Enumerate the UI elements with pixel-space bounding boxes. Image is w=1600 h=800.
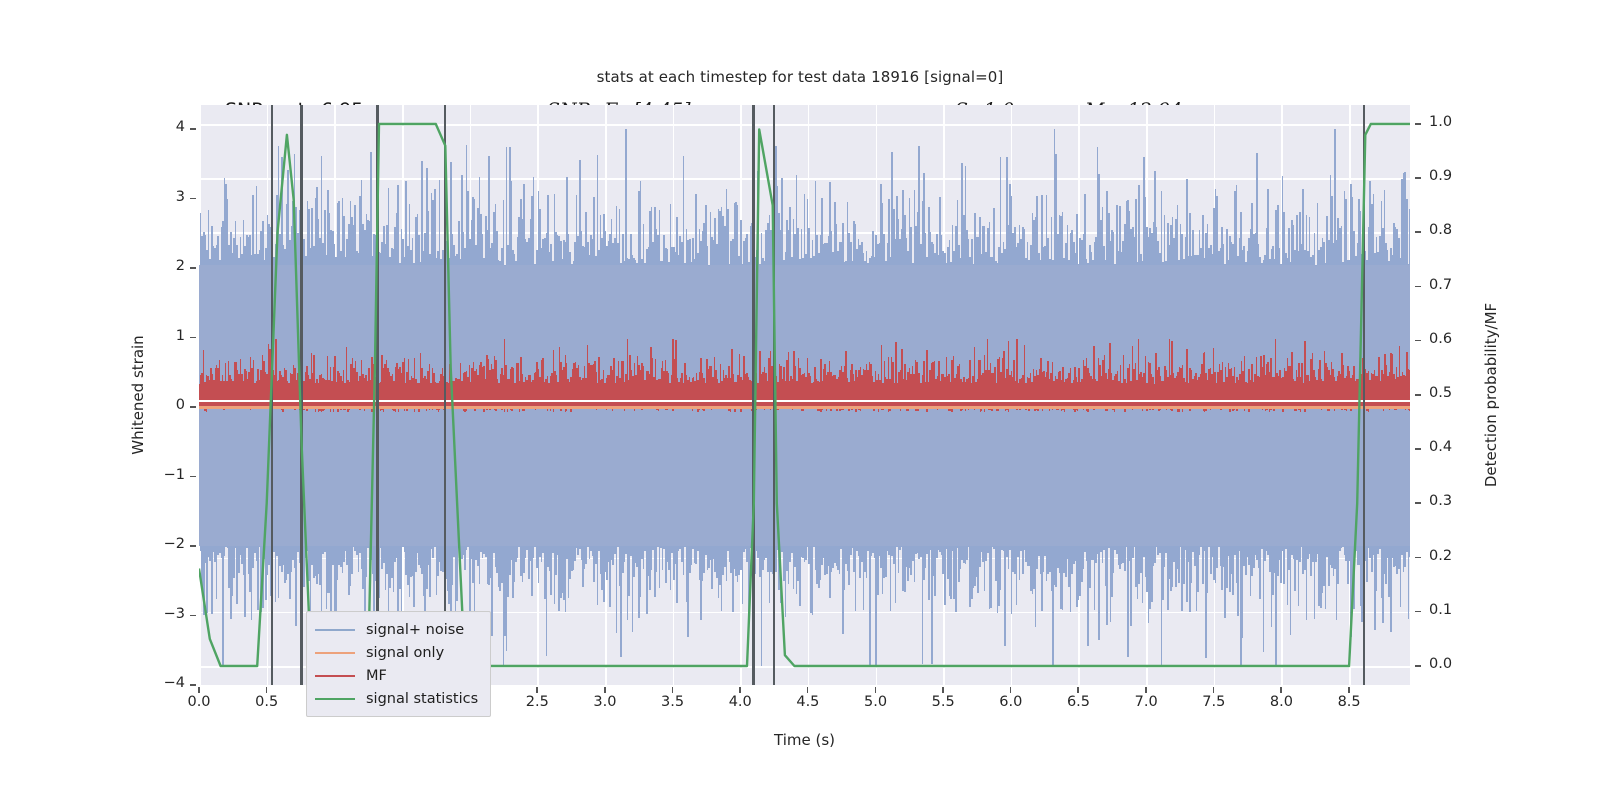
legend[interactable]: signal+ noisesignal onlyMFsignal statist… bbox=[306, 611, 491, 717]
signal-statistics-trace bbox=[199, 105, 1410, 685]
x-tick-label: 5.5 bbox=[913, 694, 973, 710]
legend-label: signal+ noise bbox=[366, 622, 464, 638]
legend-label: signal only bbox=[366, 645, 444, 661]
x-tick-mark bbox=[942, 687, 944, 693]
y-tick-label-left: 2 bbox=[176, 258, 185, 274]
plot-area bbox=[199, 105, 1410, 685]
legend-swatch-icon bbox=[315, 698, 355, 700]
legend-swatch-icon bbox=[315, 675, 355, 677]
y-tick-mark-left bbox=[190, 684, 196, 686]
x-tick-label: 2.5 bbox=[507, 694, 567, 710]
legend-item-mf[interactable]: MF bbox=[315, 664, 478, 687]
x-tick-mark bbox=[807, 687, 809, 693]
x-tick-mark bbox=[604, 687, 606, 693]
y-tick-label-right: 0.7 bbox=[1429, 277, 1452, 293]
y-tick-label-left: 3 bbox=[176, 189, 185, 205]
y-axis-label-left: Whitened strain bbox=[129, 335, 147, 454]
x-tick-mark bbox=[198, 687, 200, 693]
y-tick-label-right: 0.0 bbox=[1429, 656, 1452, 672]
y-tick-label-right: 0.4 bbox=[1429, 439, 1452, 455]
x-tick-label: 7.0 bbox=[1116, 694, 1176, 710]
legend-item-signal-only[interactable]: signal only bbox=[315, 641, 478, 664]
y-tick-mark-right bbox=[1415, 502, 1421, 504]
y-tick-label-right: 0.2 bbox=[1429, 548, 1452, 564]
x-tick-label: 8.0 bbox=[1251, 694, 1311, 710]
y-tick-label-left: −2 bbox=[164, 536, 185, 552]
y-tick-label-right: 0.1 bbox=[1429, 602, 1452, 618]
legend-swatch-icon bbox=[315, 629, 355, 631]
figure: stats at each timestep for test data 189… bbox=[0, 0, 1600, 800]
x-axis-label: Time (s) bbox=[199, 731, 1410, 749]
y-tick-label-left: 4 bbox=[176, 119, 185, 135]
y-tick-mark-right bbox=[1415, 394, 1421, 396]
legend-item-signal-noise[interactable]: signal+ noise bbox=[315, 618, 478, 641]
x-tick-mark bbox=[1010, 687, 1012, 693]
y-tick-mark-left bbox=[190, 128, 196, 130]
x-tick-label: 6.0 bbox=[981, 694, 1041, 710]
y-tick-mark-right bbox=[1415, 448, 1421, 450]
y-tick-mark-left bbox=[190, 615, 196, 617]
y-tick-label-left: −1 bbox=[164, 467, 185, 483]
y-tick-mark-right bbox=[1415, 611, 1421, 613]
x-tick-mark bbox=[1348, 687, 1350, 693]
x-tick-label: 6.5 bbox=[1048, 694, 1108, 710]
y-tick-mark-left bbox=[190, 476, 196, 478]
y-tick-label-left: 1 bbox=[176, 328, 185, 344]
y-tick-mark-left bbox=[190, 198, 196, 200]
y-tick-mark-left bbox=[190, 406, 196, 408]
x-tick-mark bbox=[875, 687, 877, 693]
x-tick-mark bbox=[1213, 687, 1215, 693]
x-tick-mark bbox=[1077, 687, 1079, 693]
y-tick-mark-right bbox=[1415, 123, 1421, 125]
y-tick-label-right: 0.3 bbox=[1429, 493, 1452, 509]
y-tick-mark-left bbox=[190, 267, 196, 269]
y-tick-mark-right bbox=[1415, 557, 1421, 559]
x-tick-mark bbox=[1280, 687, 1282, 693]
legend-item-signal-statistics[interactable]: signal statistics bbox=[315, 687, 478, 710]
y-tick-mark-right bbox=[1415, 340, 1421, 342]
x-tick-label: 8.5 bbox=[1319, 694, 1379, 710]
legend-label: MF bbox=[366, 668, 387, 684]
x-tick-mark bbox=[672, 687, 674, 693]
y-tick-label-right: 0.6 bbox=[1429, 331, 1452, 347]
x-tick-label: 4.5 bbox=[778, 694, 838, 710]
y-tick-label-left: −3 bbox=[164, 606, 185, 622]
y-tick-mark-left bbox=[190, 337, 196, 339]
y-tick-mark-right bbox=[1415, 177, 1421, 179]
x-tick-label: 5.0 bbox=[846, 694, 906, 710]
x-tick-mark bbox=[536, 687, 538, 693]
y-tick-mark-right bbox=[1415, 286, 1421, 288]
y-tick-label-right: 0.5 bbox=[1429, 385, 1452, 401]
x-tick-label: 3.0 bbox=[575, 694, 635, 710]
y-tick-label-left: −4 bbox=[164, 675, 185, 691]
y-tick-mark-right bbox=[1415, 231, 1421, 233]
y-axis-label-right: Detection probability/MF bbox=[1482, 303, 1500, 487]
x-tick-label: 4.0 bbox=[710, 694, 770, 710]
x-tick-label: 3.5 bbox=[643, 694, 703, 710]
y-tick-mark-right bbox=[1415, 665, 1421, 667]
x-tick-mark bbox=[266, 687, 268, 693]
legend-swatch-icon bbox=[315, 652, 355, 654]
x-tick-label: 7.5 bbox=[1184, 694, 1244, 710]
y-tick-mark-left bbox=[190, 545, 196, 547]
x-tick-mark bbox=[739, 687, 741, 693]
y-tick-label-right: 1.0 bbox=[1429, 114, 1452, 130]
x-tick-mark bbox=[1145, 687, 1147, 693]
x-tick-label: 0.5 bbox=[237, 694, 297, 710]
x-tick-label: 0.0 bbox=[169, 694, 229, 710]
y-tick-label-right: 0.8 bbox=[1429, 222, 1452, 238]
y-tick-label-left: 0 bbox=[176, 397, 185, 413]
legend-label: signal statistics bbox=[366, 691, 478, 707]
y-tick-label-right: 0.9 bbox=[1429, 168, 1452, 184]
signal-statistics-path bbox=[199, 124, 1410, 666]
chart-title: stats at each timestep for test data 189… bbox=[0, 68, 1600, 86]
